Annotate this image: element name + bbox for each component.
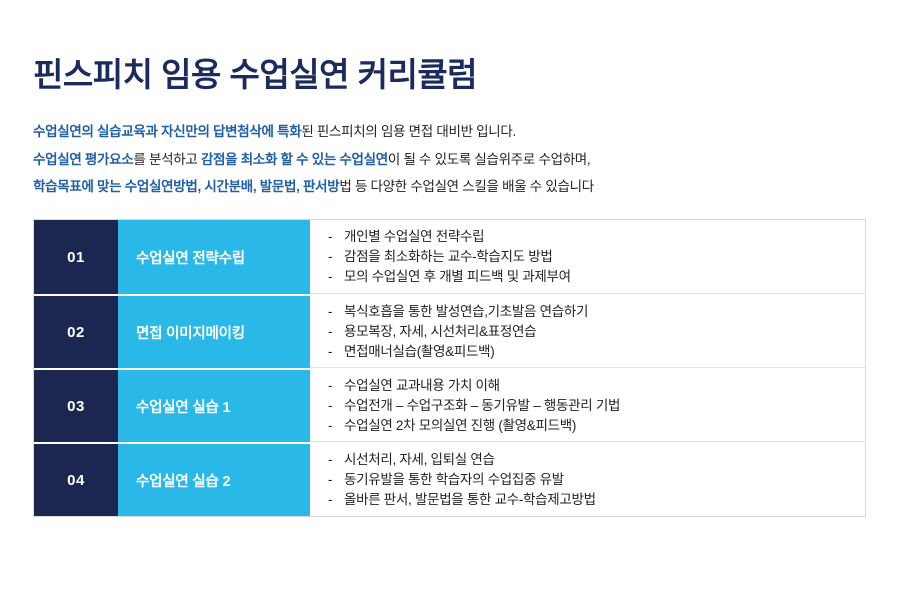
- bullet-marker-icon: -: [328, 490, 344, 510]
- subtitle-segment: 법 등 다양한 수업실연 스킬을 배울 수 있습니다: [339, 179, 593, 194]
- list-item-text: 개인별 수업실연 전략수립: [344, 227, 865, 247]
- subtitle-line: 수업실연 평가요소를 분석하고 감점을 최소화 할 수 있는 수업실연이 될 수…: [33, 146, 863, 174]
- subtitle-segment: 이 될 수 있도록 실습위주로 수업하며,: [388, 152, 591, 167]
- list-item-text: 감점을 최소화하는 교수-학습지도 방법: [344, 247, 865, 267]
- list-item: - 올바른 판서, 발문법을 통한 교수-학습제고방법: [328, 490, 865, 510]
- row-title: 수업실연 실습 1: [118, 370, 310, 442]
- row-number: 04: [34, 444, 118, 516]
- list-item: - 수업실연 2차 모의실연 진행 (촬영&피드백): [328, 416, 865, 436]
- row-details: - 시선처리, 자세, 입퇴실 연습 - 동기유발을 통한 학습자의 수업집중 …: [310, 444, 865, 516]
- subtitle-segment: 수업실연의 실습교육과 자신만의 답변첨삭에 특화: [33, 124, 301, 139]
- subtitle-line: 수업실연의 실습교육과 자신만의 답변첨삭에 특화된 핀스피치의 임용 면접 대…: [33, 118, 863, 146]
- bullet-marker-icon: -: [328, 227, 344, 247]
- list-item: - 수업전개 – 수업구조화 – 동기유발 – 행동관리 기법: [328, 396, 865, 416]
- row-title: 수업실연 실습 2: [118, 444, 310, 516]
- row-number: 03: [34, 370, 118, 442]
- bullet-marker-icon: -: [328, 247, 344, 267]
- list-item-text: 수업전개 – 수업구조화 – 동기유발 – 행동관리 기법: [344, 396, 865, 416]
- subtitle-segment: 감점을 최소화 할 수 있는 수업실연: [201, 152, 388, 167]
- list-item-text: 용모복장, 자세, 시선처리&표정연습: [344, 322, 865, 342]
- bullet-marker-icon: -: [328, 376, 344, 396]
- list-item: - 수업실연 교과내용 가치 이해: [328, 376, 865, 396]
- list-item: - 개인별 수업실연 전략수립: [328, 227, 865, 247]
- curriculum-table: 01 수업실연 전략수립 - 개인별 수업실연 전략수립 - 감점을 최소화하는…: [33, 219, 866, 517]
- list-item-text: 면접매너실습(촬영&피드백): [344, 342, 865, 362]
- row-details: - 개인별 수업실연 전략수립 - 감점을 최소화하는 교수-학습지도 방법 -…: [310, 220, 865, 294]
- row-title: 수업실연 전략수립: [118, 220, 310, 294]
- table-row: 03 수업실연 실습 1 - 수업실연 교과내용 가치 이해 - 수업전개 – …: [34, 368, 865, 442]
- list-item: - 시선처리, 자세, 입퇴실 연습: [328, 450, 865, 470]
- subtitle-segment: 를 분석하고: [133, 152, 201, 167]
- curriculum-slide: 핀스피치 임용 수업실연 커리큘럼 수업실연의 실습교육과 자신만의 답변첨삭에…: [0, 0, 900, 594]
- bullet-marker-icon: -: [328, 470, 344, 490]
- list-item: - 복식호흡을 통한 발성연습,기초발음 연습하기: [328, 302, 865, 322]
- row-number: 01: [34, 220, 118, 294]
- page-title: 핀스피치 임용 수업실연 커리큘럼: [33, 57, 477, 93]
- row-title: 면접 이미지메이킹: [118, 296, 310, 368]
- list-item-text: 복식호흡을 통한 발성연습,기초발음 연습하기: [344, 302, 865, 322]
- table-row: 01 수업실연 전략수립 - 개인별 수업실연 전략수립 - 감점을 최소화하는…: [34, 220, 865, 294]
- subtitle-line: 학습목표에 맞는 수업실연방법, 시간분배, 발문법, 판서방법 등 다양한 수…: [33, 173, 863, 201]
- table-row: 04 수업실연 실습 2 - 시선처리, 자세, 입퇴실 연습 - 동기유발을 …: [34, 442, 865, 516]
- list-item-text: 동기유발을 통한 학습자의 수업집중 유발: [344, 470, 865, 490]
- list-item: - 모의 수업실연 후 개별 피드백 및 과제부여: [328, 267, 865, 287]
- list-item-text: 시선처리, 자세, 입퇴실 연습: [344, 450, 865, 470]
- subtitle-block: 수업실연의 실습교육과 자신만의 답변첨삭에 특화된 핀스피치의 임용 면접 대…: [33, 118, 863, 201]
- list-item-text: 모의 수업실연 후 개별 피드백 및 과제부여: [344, 267, 865, 287]
- list-item-text: 수업실연 교과내용 가치 이해: [344, 376, 865, 396]
- bullet-marker-icon: -: [328, 322, 344, 342]
- list-item: - 동기유발을 통한 학습자의 수업집중 유발: [328, 470, 865, 490]
- bullet-marker-icon: -: [328, 396, 344, 416]
- list-item-text: 수업실연 2차 모의실연 진행 (촬영&피드백): [344, 416, 865, 436]
- table-row: 02 면접 이미지메이킹 - 복식호흡을 통한 발성연습,기초발음 연습하기 -…: [34, 294, 865, 368]
- list-item: - 면접매너실습(촬영&피드백): [328, 342, 865, 362]
- row-number: 02: [34, 296, 118, 368]
- bullet-marker-icon: -: [328, 450, 344, 470]
- list-item-text: 올바른 판서, 발문법을 통한 교수-학습제고방법: [344, 490, 865, 510]
- list-item: - 용모복장, 자세, 시선처리&표정연습: [328, 322, 865, 342]
- bullet-marker-icon: -: [328, 416, 344, 436]
- subtitle-segment: 학습목표에 맞는 수업실연방법, 시간분배, 발문법, 판서방: [33, 179, 339, 194]
- subtitle-segment: 된 핀스피치의 임용 면접 대비반 입니다.: [301, 124, 516, 139]
- bullet-marker-icon: -: [328, 302, 344, 322]
- subtitle-segment: 수업실연 평가요소: [33, 152, 133, 167]
- list-item: - 감점을 최소화하는 교수-학습지도 방법: [328, 247, 865, 267]
- row-details: - 수업실연 교과내용 가치 이해 - 수업전개 – 수업구조화 – 동기유발 …: [310, 370, 865, 442]
- row-details: - 복식호흡을 통한 발성연습,기초발음 연습하기 - 용모복장, 자세, 시선…: [310, 296, 865, 368]
- bullet-marker-icon: -: [328, 267, 344, 287]
- bullet-marker-icon: -: [328, 342, 344, 362]
